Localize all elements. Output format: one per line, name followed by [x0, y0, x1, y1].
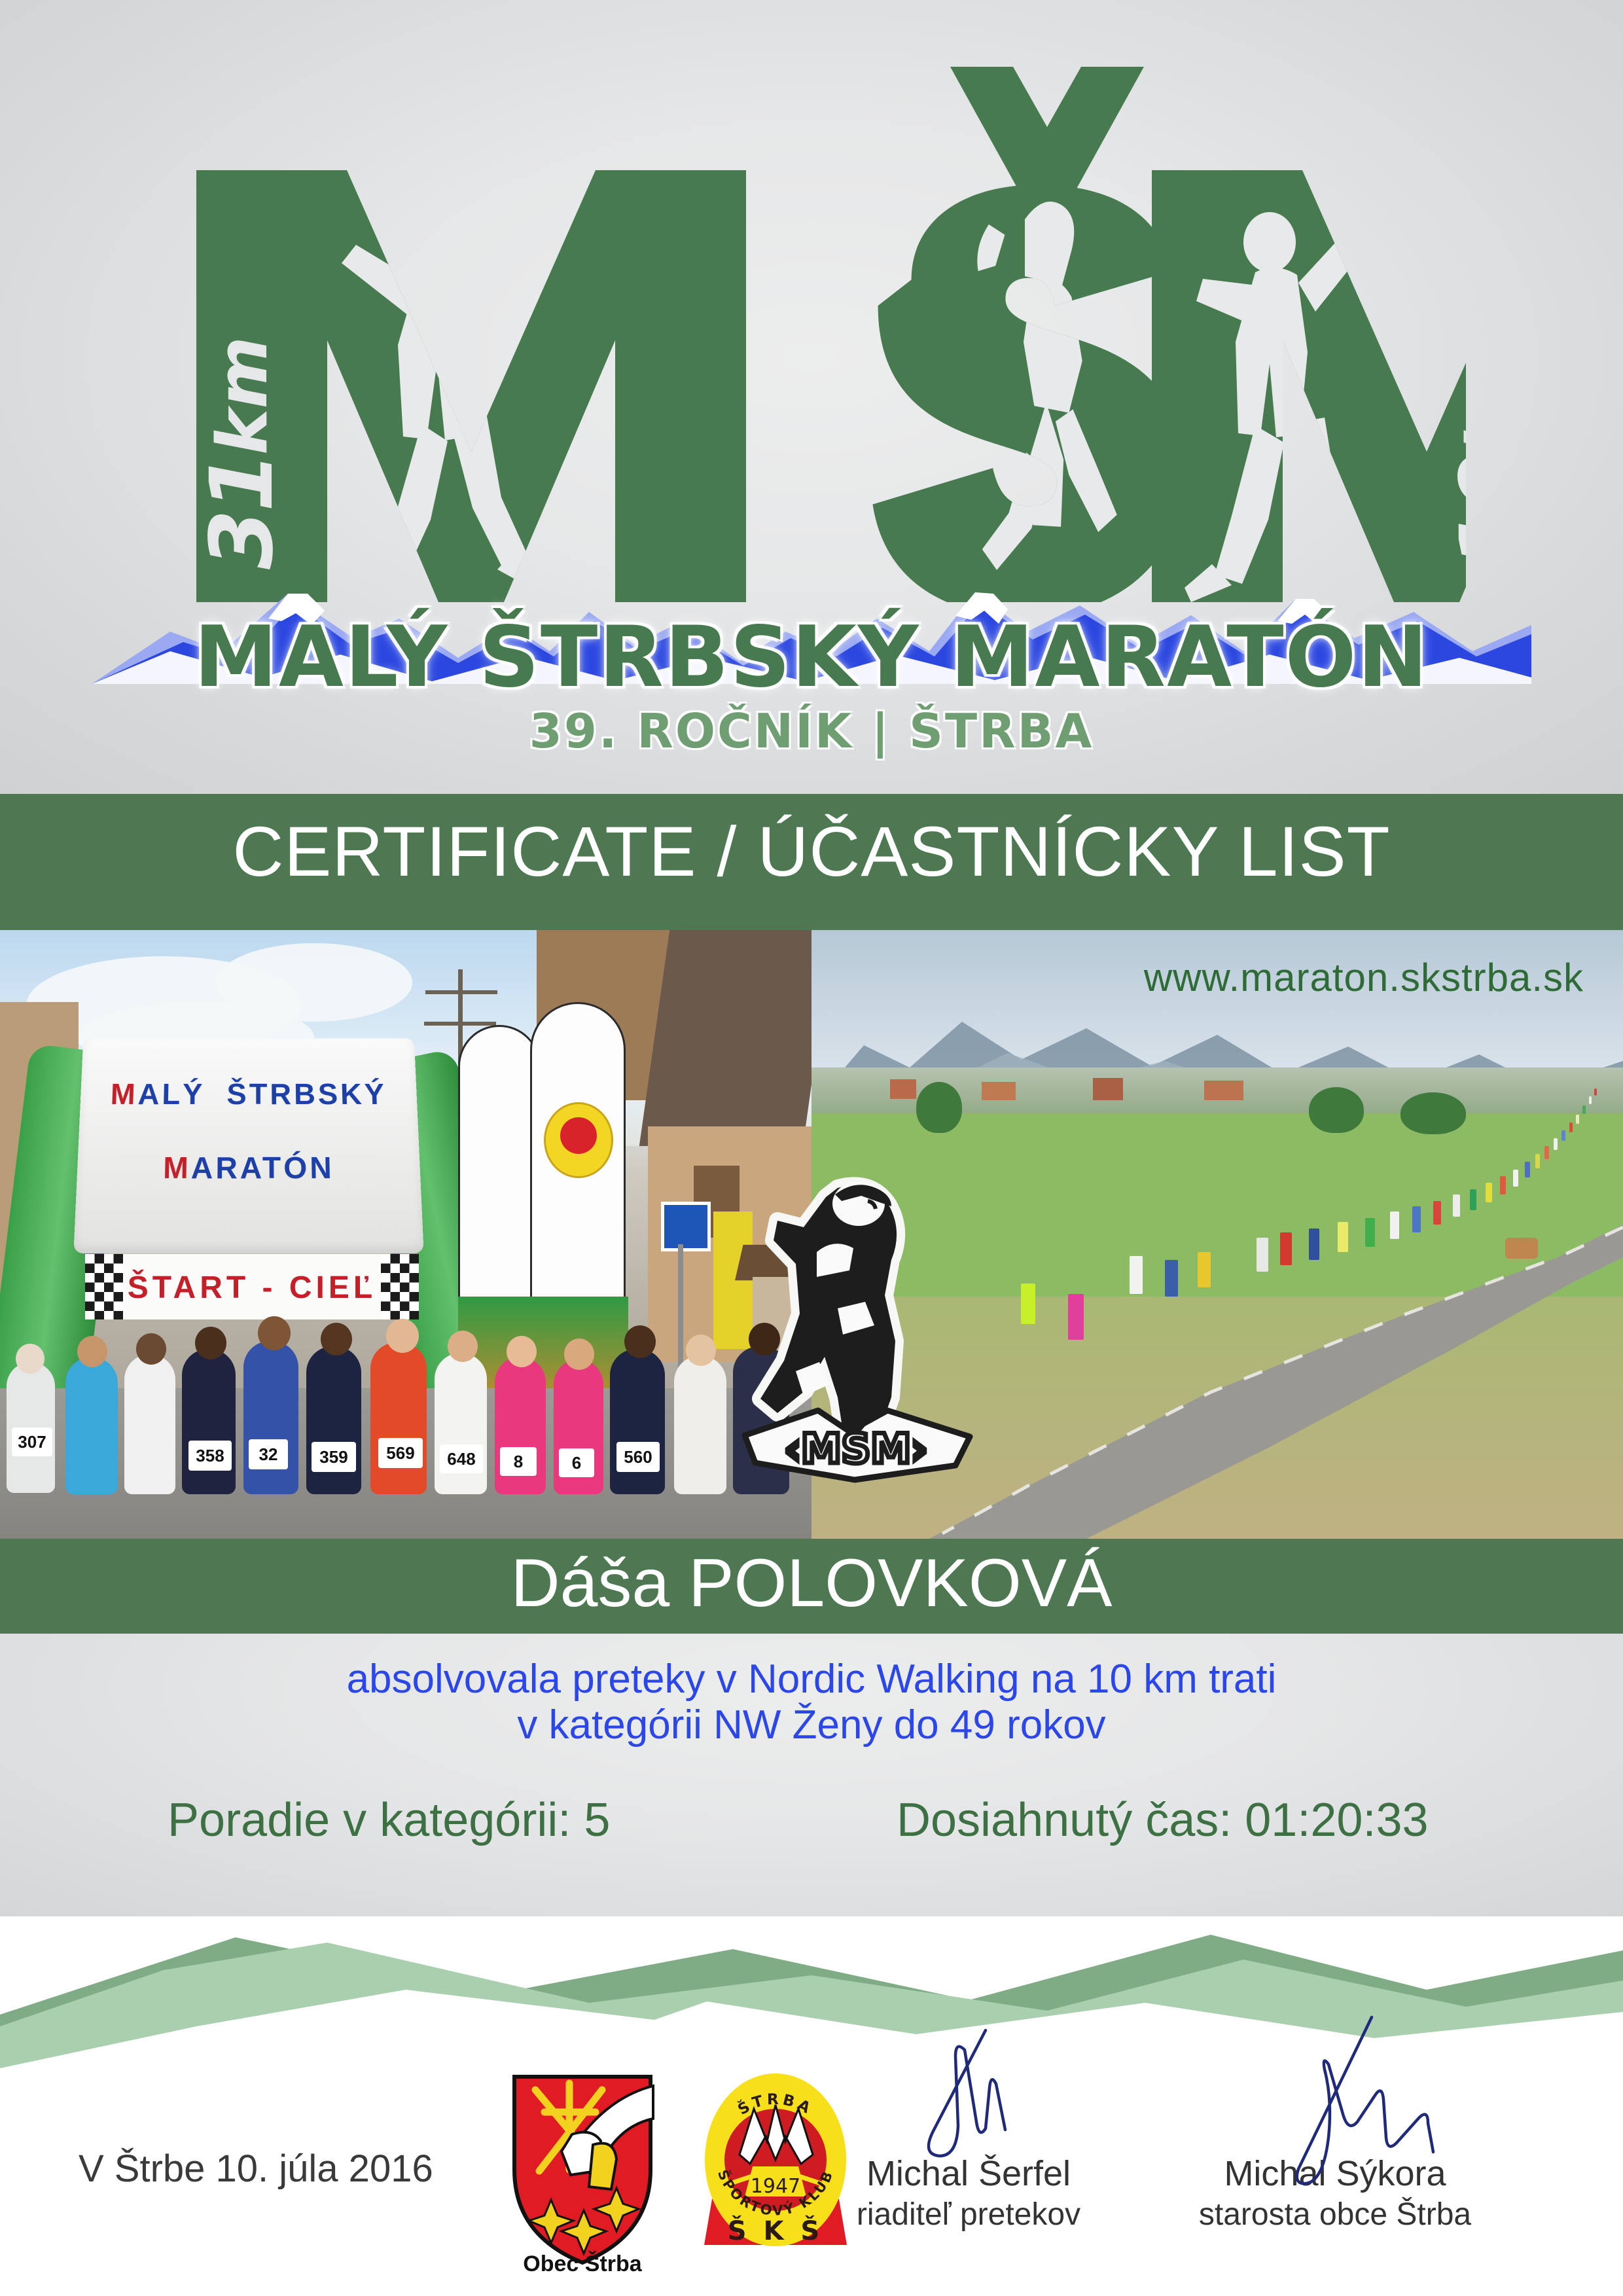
description-line-2: v kategórii NW Ženy do 49 rokov	[0, 1702, 1623, 1748]
bib-number: 358	[188, 1441, 232, 1471]
cow	[1505, 1238, 1538, 1259]
event-title: MALÝ ŠTRBSKÝ MARATÓN	[0, 609, 1623, 706]
bib-number: 648	[440, 1444, 483, 1473]
tree	[916, 1082, 962, 1133]
arch-text-line1: MALÝ ŠTRBSKÝ	[80, 1077, 418, 1111]
bib-number: 307	[12, 1427, 52, 1456]
event-subtitle: 39. ROČNÍK | ŠTRBA	[0, 704, 1623, 759]
bib-number: 6	[559, 1448, 594, 1477]
start-finish-text: ŠTART - CIEĽ	[85, 1270, 419, 1306]
utility-crossbar	[425, 990, 497, 994]
start-finish-banner: ŠTART - CIEĽ	[85, 1254, 419, 1319]
svg-text:km: km	[1452, 336, 1466, 455]
bib-number: 359	[312, 1442, 356, 1472]
description-line-1: absolvovala preteky v Nordic Walking na …	[0, 1656, 1623, 1702]
photo-start-arch: MALÝ ŠTRBSKÝ MARATÓN ŠTART - CIEĽ	[0, 930, 811, 1539]
svg-text:km: km	[202, 336, 283, 455]
club-base-text: Š K Š	[728, 2215, 823, 2246]
arch-text-line2: MARATÓN	[77, 1150, 421, 1185]
tree	[1309, 1087, 1364, 1133]
signature-ink-serfel	[903, 2003, 1099, 2199]
arch-banner: MALÝ ŠTRBSKÝ MARATÓN	[73, 1038, 423, 1253]
building-roof	[639, 930, 811, 1146]
website-url[interactable]: www.maraton.skstrba.sk	[1144, 955, 1584, 1000]
pedestrian-crossing-sign	[661, 1202, 711, 1251]
signature-role: riaditeľ pretekov	[825, 2197, 1113, 2233]
svg-text:10: 10	[1442, 454, 1466, 569]
village-roof	[1204, 1081, 1243, 1100]
msm-logo-mark: 31 km	[157, 26, 1466, 602]
utility-crossbar	[424, 1022, 496, 1026]
village-roof	[890, 1079, 916, 1099]
village-roof	[982, 1082, 1016, 1100]
bib-number: 32	[249, 1439, 288, 1469]
bib-number: 560	[616, 1442, 660, 1472]
signature-ink-sykora	[1243, 2003, 1518, 2212]
bib-number: 569	[378, 1438, 423, 1468]
tree	[1400, 1092, 1466, 1134]
logo-area: 31 km	[0, 0, 1623, 794]
msm-runner-sticker: ‹MŠM›	[740, 1175, 975, 1489]
category-rank: Poradie v kategórii: 5	[168, 1793, 610, 1847]
club-year: 1947	[751, 2175, 800, 2198]
obec-strba-crest-icon	[504, 2072, 661, 2268]
village-roof	[1093, 1078, 1123, 1100]
certificate-page: 31 km	[0, 0, 1623, 2296]
crest-caption: Obec Štrba	[504, 2251, 661, 2277]
sticker-text: ‹MŠM›	[784, 1425, 927, 1473]
issue-date: V Štrbe 10. júla 2016	[79, 2147, 433, 2191]
svg-text:31: 31	[192, 454, 293, 569]
finish-time: Dosiahnutý čas: 01:20:33	[897, 1793, 1429, 1847]
certificate-title: CERTIFICATE / ÚČASTNÍCKY LIST	[0, 810, 1623, 892]
sks-logo-icon	[544, 1102, 613, 1178]
bib-number: 8	[500, 1447, 537, 1476]
participant-name: Dáša POLOVKOVÁ	[0, 1545, 1623, 1623]
